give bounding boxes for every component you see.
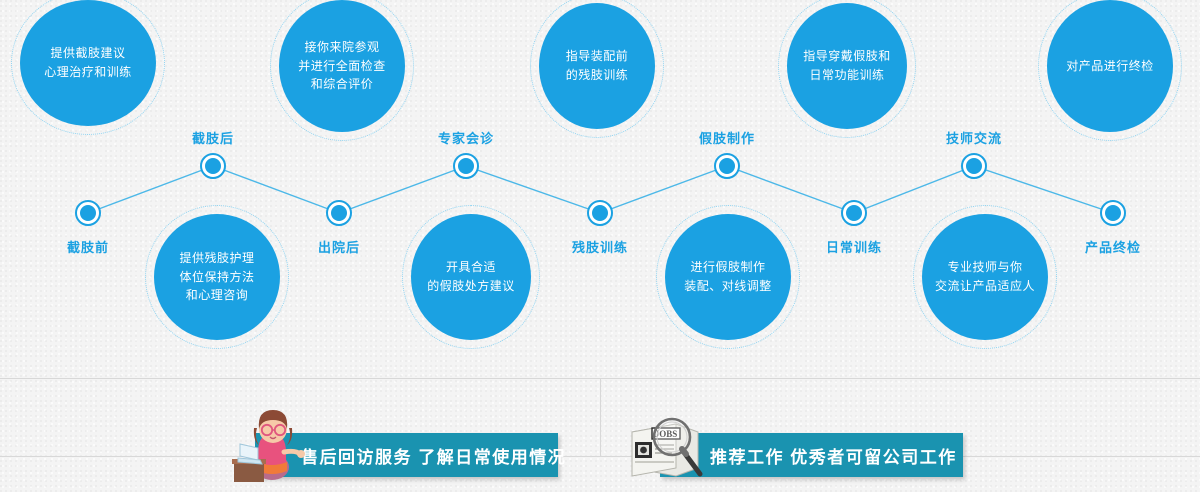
bubble-text: 对产品进行终检 xyxy=(1060,57,1160,76)
section-divider-bottom xyxy=(0,456,1200,457)
milestone-node-prosthesis-make[interactable] xyxy=(714,153,740,179)
banner-job-placement-label: 推荐工作 优秀者可留公司工作 xyxy=(710,443,957,468)
bubble-stump-training[interactable]: 指导装配前 的残肢训练 xyxy=(539,3,655,129)
milestone-node-pre-amputation[interactable] xyxy=(75,200,101,226)
bubble-daily-training[interactable]: 指导穿戴假肢和 日常功能训练 xyxy=(787,3,907,129)
milestone-node-daily-training[interactable] xyxy=(841,200,867,226)
milestone-node-technician-talk[interactable] xyxy=(961,153,987,179)
bubble-technician-talk[interactable]: 专业技师与你 交流让产品适应人 xyxy=(922,214,1048,340)
milestone-label-post-discharge: 出院后 xyxy=(318,237,360,256)
bubble-text: 接你来院参观 并进行全面检查 和综合评价 xyxy=(292,38,392,94)
milestone-label-post-amputation: 截肢后 xyxy=(192,128,234,147)
bubble-text: 开具合适 的假肢处方建议 xyxy=(421,258,521,295)
milestone-label-final-check: 产品终检 xyxy=(1085,237,1141,256)
banner-after-sales[interactable]: 售后回访服务 了解日常使用情况 xyxy=(255,433,558,477)
bubble-text: 进行假肢制作 装配、对线调整 xyxy=(678,258,778,295)
milestone-node-post-discharge[interactable] xyxy=(326,200,352,226)
bubble-prosthesis-make[interactable]: 进行假肢制作 装配、对线调整 xyxy=(665,214,791,340)
banner-after-sales-label: 售后回访服务 了解日常使用情况 xyxy=(301,443,566,468)
bubble-post-discharge[interactable]: 接你来院参观 并进行全面检查 和综合评价 xyxy=(279,0,405,132)
bubble-final-check[interactable]: 对产品进行终检 xyxy=(1047,0,1173,132)
milestone-node-final-check[interactable] xyxy=(1100,200,1126,226)
bubble-text: 提供截肢建议 心理治疗和训练 xyxy=(38,44,138,81)
milestone-node-stump-training[interactable] xyxy=(587,200,613,226)
bubble-pre-amputation[interactable]: 提供截肢建议 心理治疗和训练 xyxy=(20,0,156,126)
milestone-node-expert-consult[interactable] xyxy=(453,153,479,179)
milestone-label-prosthesis-make: 假肢制作 xyxy=(699,128,755,147)
bubble-text: 指导装配前 的残肢训练 xyxy=(560,47,635,84)
bubble-text: 指导穿戴假肢和 日常功能训练 xyxy=(797,47,897,84)
milestone-label-expert-consult: 专家会诊 xyxy=(438,128,494,147)
banner-job-placement[interactable]: 推荐工作 优秀者可留公司工作 xyxy=(660,433,963,477)
bubble-text: 提供残肢护理 体位保持方法 和心理咨询 xyxy=(173,249,260,305)
milestone-label-stump-training: 残肢训练 xyxy=(572,237,628,256)
milestone-label-technician-talk: 技师交流 xyxy=(946,128,1002,147)
section-divider-vertical xyxy=(600,378,601,456)
milestone-node-post-amputation[interactable] xyxy=(200,153,226,179)
milestone-label-pre-amputation: 截肢前 xyxy=(67,237,109,256)
infographic-stage: 提供截肢建议 心理治疗和训练提供残肢护理 体位保持方法 和心理咨询接你来院参观 … xyxy=(0,0,1200,492)
bubble-expert-consult[interactable]: 开具合适 的假肢处方建议 xyxy=(411,214,531,340)
bubble-text: 专业技师与你 交流让产品适应人 xyxy=(929,258,1041,295)
bubble-post-amputation[interactable]: 提供残肢护理 体位保持方法 和心理咨询 xyxy=(154,214,280,340)
milestone-label-daily-training: 日常训练 xyxy=(826,237,882,256)
